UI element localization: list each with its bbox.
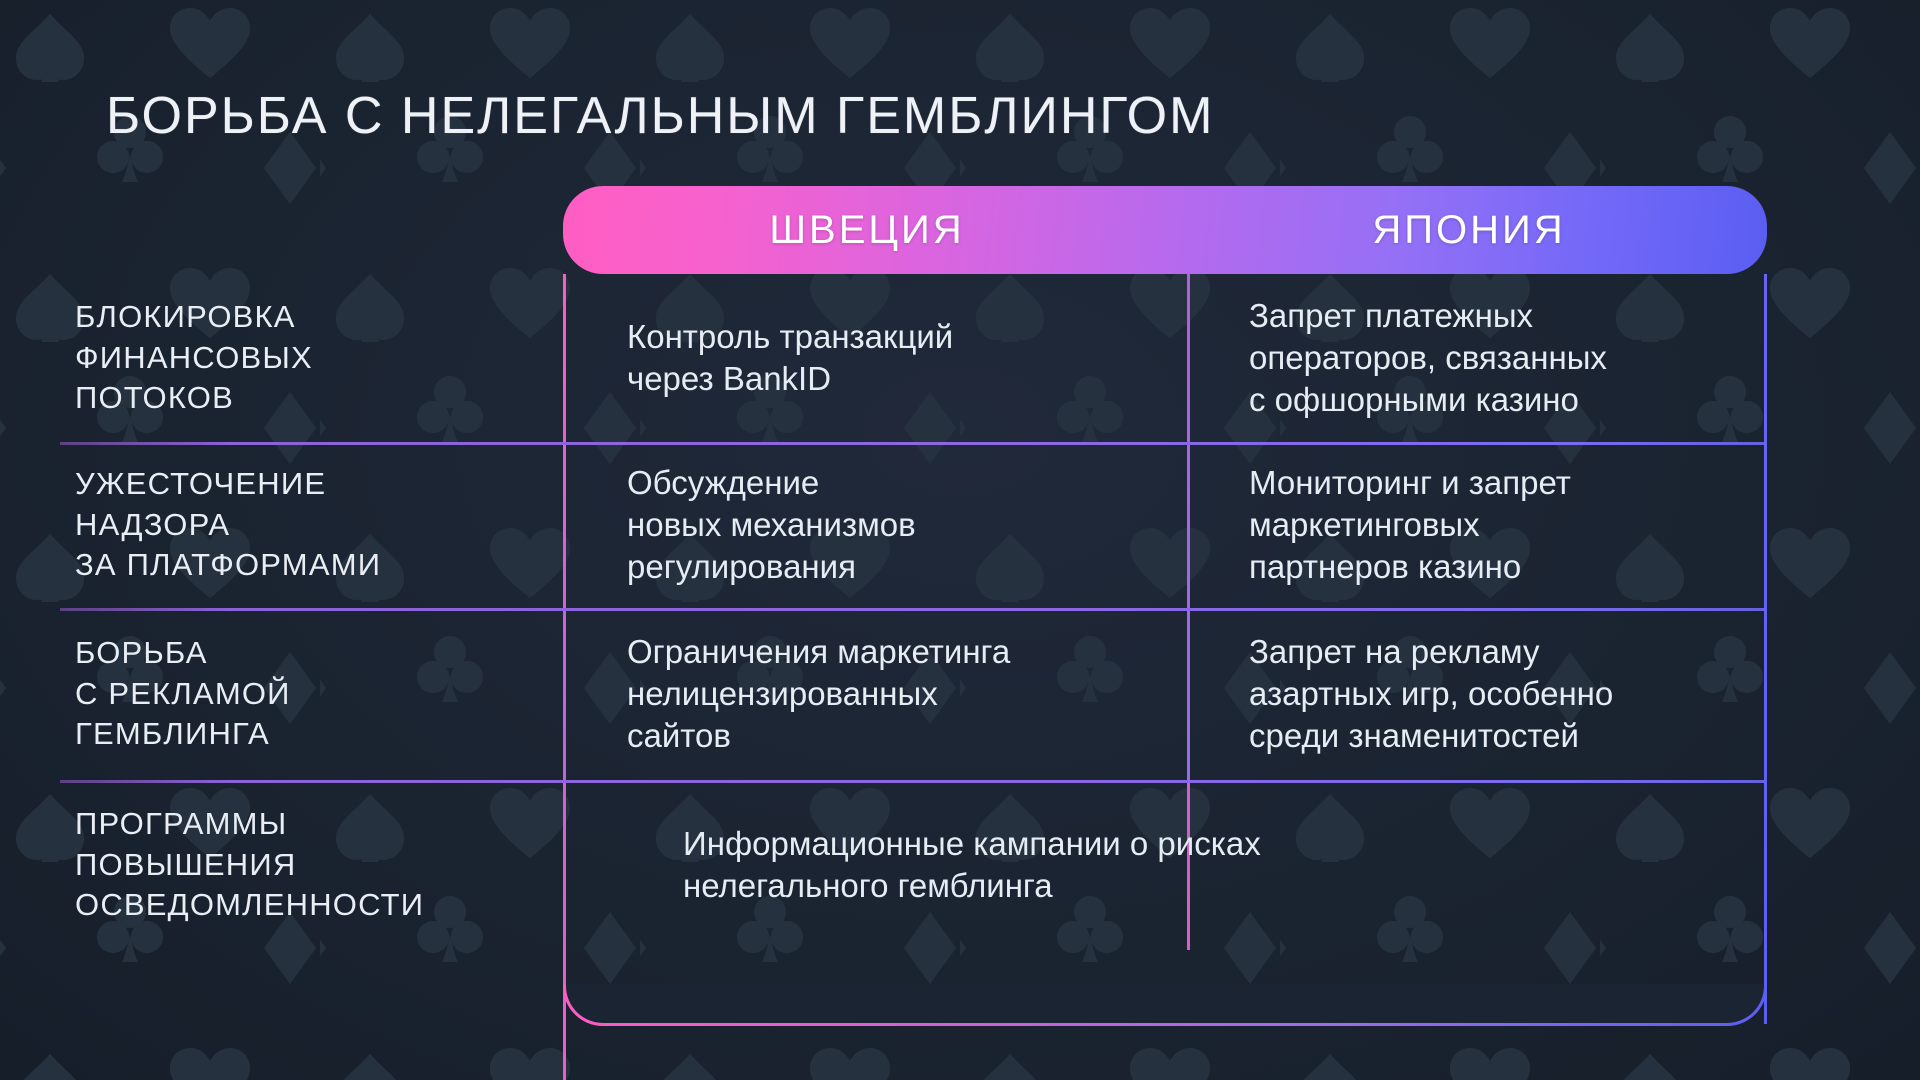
cell-sweden: Контроль транзакций через BankID xyxy=(563,274,1187,442)
row-label: УЖЕСТОЧЕНИЕ НАДЗОРА ЗА ПЛАТФОРМАМИ xyxy=(0,442,563,608)
slide-canvas: БОРЬБА С НЕЛЕГАЛЬНЫМ ГЕМБЛИНГОМ ШВЕЦИЯ Я… xyxy=(0,0,1920,1080)
cell-japan: Запрет платежных операторов, связанных с… xyxy=(1187,274,1783,442)
cell-japan: Запрет на рекламу азартных игр, особенно… xyxy=(1187,608,1783,780)
row-label: ПРОГРАММЫ ПОВЫШЕНИЯ ОСВЕДОМЛЕННОСТИ xyxy=(0,780,563,950)
table-row: БЛОКИРОВКА ФИНАНСОВЫХ ПОТОКОВ Контроль т… xyxy=(0,274,1920,442)
row-label: БОРЬБА С РЕКЛАМОЙ ГЕМБЛИНГА xyxy=(0,608,563,780)
table-row: БОРЬБА С РЕКЛАМОЙ ГЕМБЛИНГА Ограничения … xyxy=(0,608,1920,780)
table-header-bar: ШВЕЦИЯ ЯПОНИЯ xyxy=(563,186,1767,274)
page-title: БОРЬБА С НЕЛЕГАЛЬНЫМ ГЕМБЛИНГОМ xyxy=(106,86,1214,146)
row-label: БЛОКИРОВКА ФИНАНСОВЫХ ПОТОКОВ xyxy=(0,274,563,442)
cell-japan: Мониторинг и запрет маркетинговых партне… xyxy=(1187,442,1783,608)
cell-sweden: Обсуждение новых механизмов регулировани… xyxy=(563,442,1187,608)
cell-merged: Информационные кампании о рисках нелегал… xyxy=(563,780,1783,950)
table-row: ПРОГРАММЫ ПОВЫШЕНИЯ ОСВЕДОМЛЕННОСТИ Инфо… xyxy=(0,780,1920,950)
column-header-japan: ЯПОНИЯ xyxy=(1171,208,1767,253)
column-header-sweden: ШВЕЦИЯ xyxy=(563,208,1171,253)
table-row: УЖЕСТОЧЕНИЕ НАДЗОРА ЗА ПЛАТФОРМАМИ Обсуж… xyxy=(0,442,1920,608)
table-body: БЛОКИРОВКА ФИНАНСОВЫХ ПОТОКОВ Контроль т… xyxy=(0,274,1920,950)
cell-sweden: Ограничения маркетинга нелицензированных… xyxy=(563,608,1187,780)
